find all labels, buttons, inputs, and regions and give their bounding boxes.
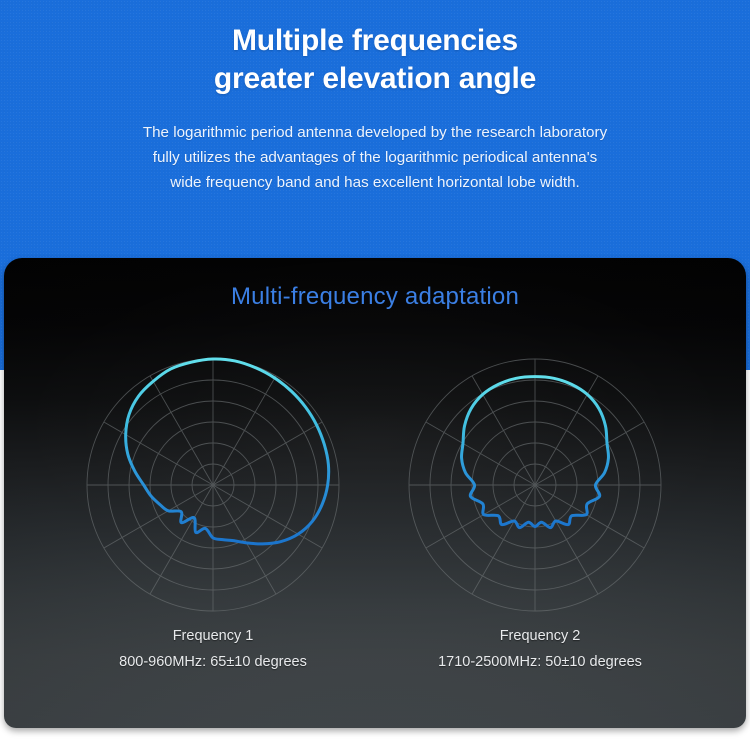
caption-frequency-2-name: Frequency 2 xyxy=(375,626,705,646)
page-subtitle: The logarithmic period antenna developed… xyxy=(32,120,718,195)
polar-grid-frequency-1 xyxy=(87,359,339,611)
page-subtitle-line-3: wide frequency band and has excellent ho… xyxy=(32,170,718,195)
polar-chart-frequency-1-svg xyxy=(73,352,353,622)
polar-chart-frequency-1 xyxy=(73,352,353,622)
caption-frequency-2: Frequency 2 1710-2500MHz: 50±10 degrees xyxy=(375,626,705,672)
polar-chart-frequency-2-svg xyxy=(395,352,675,622)
page-title-line-2: greater elevation angle xyxy=(0,60,750,98)
page-subtitle-line-1: The logarithmic period antenna developed… xyxy=(32,120,718,145)
caption-frequency-1-name: Frequency 1 xyxy=(48,626,378,646)
page-title-line-1: Multiple frequencies xyxy=(232,24,518,57)
caption-frequency-1-spec: 800-960MHz: 65±10 degrees xyxy=(48,652,378,672)
polar-plot-group xyxy=(0,352,750,632)
page-title: Multiple frequencies greater elevation a… xyxy=(0,22,750,98)
caption-frequency-2-spec: 1710-2500MHz: 50±10 degrees xyxy=(375,652,705,672)
panel-title: Multi-frequency adaptation xyxy=(0,282,750,312)
product-feature-graphic: Multiple frequencies greater elevation a… xyxy=(0,0,750,750)
page-subtitle-line-2: fully utilizes the advantages of the log… xyxy=(32,145,718,170)
polar-chart-frequency-2 xyxy=(395,352,675,622)
polar-grid-frequency-2 xyxy=(409,359,661,611)
caption-frequency-1: Frequency 1 800-960MHz: 65±10 degrees xyxy=(48,626,378,672)
